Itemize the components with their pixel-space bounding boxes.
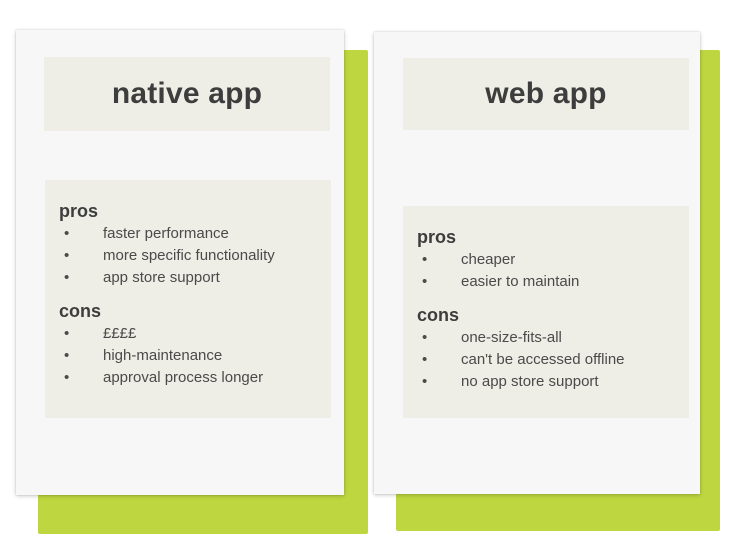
list-item-label: one-size-fits-all (461, 329, 562, 346)
list-item: • cheaper (417, 249, 683, 271)
bullet-icon: • (64, 345, 69, 367)
list-item: • easier to maintain (417, 271, 683, 293)
bullet-icon: • (64, 267, 69, 289)
section-cons-native: cons • ££££ • high-maintenance • approva (59, 302, 325, 389)
section-cons-web: cons • one-size-fits-all • can't be acce… (417, 306, 683, 393)
bullet-icon: • (422, 327, 427, 349)
list-item-label: can't be accessed offline (461, 351, 625, 368)
bullet-icon: • (64, 323, 69, 345)
bullet-icon: • (422, 349, 427, 371)
card-surface-native: native app pros • faster performance • m… (16, 30, 344, 495)
bullet-icon: • (422, 249, 427, 271)
list-item: • one-size-fits-all (417, 327, 683, 349)
bullet-icon: • (422, 371, 427, 393)
card-native-app: native app pros • faster performance • m… (16, 30, 356, 520)
list-item: • app store support (59, 267, 325, 289)
list-item-label: app store support (103, 269, 220, 286)
card-content-native: pros • faster performance • more specifi… (45, 180, 331, 418)
list-pros-web: • cheaper • easier to maintain (417, 249, 683, 293)
card-title-band-web: web app (403, 58, 689, 130)
list-pros-native: • faster performance • more specific fun… (59, 223, 325, 289)
list-item-label: approval process longer (103, 369, 263, 386)
card-title-band-native: native app (44, 57, 330, 131)
list-cons-native: • ££££ • high-maintenance • approval pro… (59, 323, 325, 389)
card-web-app: web app pros • cheaper • easier to maint… (374, 32, 722, 522)
list-item-label: easier to maintain (461, 273, 579, 290)
list-item-label: ££££ (103, 325, 136, 342)
section-heading-cons-web: cons (417, 306, 683, 325)
section-pros-native: pros • faster performance • more specifi… (59, 202, 325, 289)
card-content-web: pros • cheaper • easier to maintain (403, 206, 689, 418)
comparison-slide: native app pros • faster performance • m… (0, 0, 738, 551)
list-item: • no app store support (417, 371, 683, 393)
section-pros-web: pros • cheaper • easier to maintain (417, 228, 683, 293)
list-item: • more specific functionality (59, 245, 325, 267)
section-heading-pros-web: pros (417, 228, 683, 247)
list-item-label: no app store support (461, 373, 599, 390)
list-item: • ££££ (59, 323, 325, 345)
list-item: • high-maintenance (59, 345, 325, 367)
section-heading-cons-native: cons (59, 302, 325, 321)
list-cons-web: • one-size-fits-all • can't be accessed … (417, 327, 683, 393)
card-title-native: native app (112, 79, 262, 109)
list-item: • approval process longer (59, 367, 325, 389)
list-item-label: cheaper (461, 251, 515, 268)
list-item: • can't be accessed offline (417, 349, 683, 371)
list-item-label: high-maintenance (103, 347, 222, 364)
bullet-icon: • (422, 271, 427, 293)
bullet-icon: • (64, 367, 69, 389)
card-surface-web: web app pros • cheaper • easier to maint… (374, 32, 700, 494)
list-item-label: more specific functionality (103, 247, 275, 264)
section-heading-pros-native: pros (59, 202, 325, 221)
list-item-label: faster performance (103, 225, 229, 242)
bullet-icon: • (64, 223, 69, 245)
bullet-icon: • (64, 245, 69, 267)
list-item: • faster performance (59, 223, 325, 245)
card-title-web: web app (485, 79, 606, 109)
